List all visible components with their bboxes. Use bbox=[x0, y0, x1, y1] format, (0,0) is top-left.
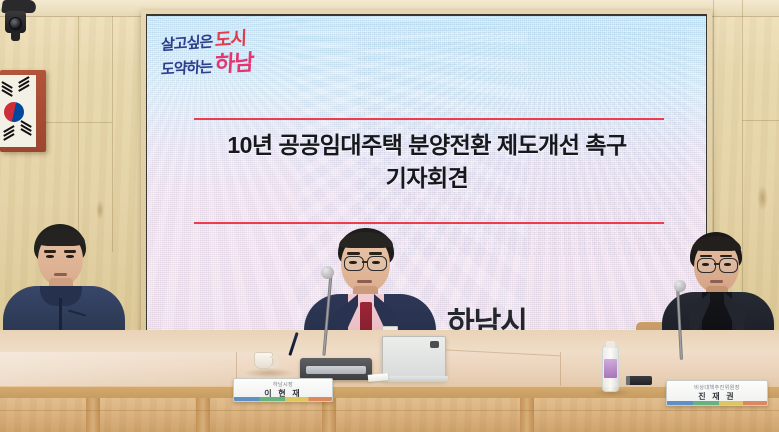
mouth bbox=[710, 280, 723, 283]
microphone-head bbox=[321, 266, 334, 279]
eyebrow-left bbox=[44, 250, 56, 253]
slogan-line2-plain: 도약하는 bbox=[160, 60, 215, 79]
eyebrow-right bbox=[64, 250, 76, 253]
eyebrow-right bbox=[369, 252, 382, 255]
object-shadow bbox=[244, 368, 294, 378]
wall-panel-seam bbox=[78, 16, 79, 246]
tablet-camera-icon bbox=[430, 341, 439, 348]
bottle-cap bbox=[606, 341, 615, 348]
nameplate-title: 하남시장 bbox=[273, 381, 293, 388]
press-conference-photo: 살고싶은 도시 도약하는 하남 10년 공공임대주택 분양전환 제도개선 촉구 … bbox=[0, 0, 779, 432]
nameplate-color-bar bbox=[234, 397, 332, 401]
table-leg bbox=[196, 398, 210, 432]
table-leg bbox=[86, 398, 100, 432]
eyeglasses-bridge bbox=[714, 263, 719, 265]
slogan-line2-accent: 하남 bbox=[214, 50, 254, 77]
table-leg bbox=[322, 398, 336, 432]
wood-knot bbox=[96, 200, 104, 220]
nameplate-title: 비상대책추진위원장 bbox=[694, 384, 740, 391]
wood-knot bbox=[757, 185, 768, 211]
table-leg bbox=[520, 398, 534, 432]
mouth bbox=[54, 273, 67, 276]
bottle-label bbox=[604, 359, 617, 378]
headline-rule-bottom bbox=[194, 222, 664, 224]
taegukgi-icon bbox=[0, 75, 36, 147]
headline-line-2: 기자회견 bbox=[177, 162, 677, 195]
hanam-city-slogan-logo: 살고싶은 도시 도약하는 하남 bbox=[161, 32, 291, 90]
camera-lens-icon bbox=[9, 17, 22, 30]
water-bottle bbox=[602, 346, 619, 392]
headline-line-1: 10년 공공임대주택 분양전환 제도개선 촉구 bbox=[177, 129, 677, 162]
table-front-panel bbox=[0, 398, 779, 432]
wall-panel-seam bbox=[742, 120, 779, 121]
headline-rule-top bbox=[194, 118, 664, 120]
ceiling-camera bbox=[0, 0, 42, 46]
center-nameplate: 하남시장 이 현 재 bbox=[233, 378, 333, 402]
eyebrow-left bbox=[347, 252, 360, 255]
wall-panel-seam bbox=[112, 16, 113, 252]
remote-device bbox=[626, 376, 652, 385]
table-front-seam bbox=[0, 410, 779, 411]
camera-stem bbox=[11, 31, 20, 41]
korean-flag-frame bbox=[0, 70, 46, 152]
nameplate-color-bar bbox=[667, 401, 767, 405]
eye-left bbox=[702, 263, 709, 266]
mouth bbox=[357, 280, 372, 283]
table-seam bbox=[560, 352, 561, 388]
screen-headline: 10년 공공임대주택 분양전환 제도개선 촉구 기자회견 bbox=[177, 129, 677, 194]
microphone-base-face bbox=[306, 366, 366, 374]
slogan-line1-accent: 도시 bbox=[215, 28, 247, 50]
eyeglasses-bridge bbox=[362, 261, 367, 263]
microphone-head bbox=[674, 280, 686, 292]
right-nameplate: 비상대책추진위원장 진 재 권 bbox=[666, 380, 768, 406]
eye-right bbox=[724, 263, 731, 266]
tablet-stand bbox=[378, 376, 448, 382]
remote-tip bbox=[626, 376, 630, 385]
